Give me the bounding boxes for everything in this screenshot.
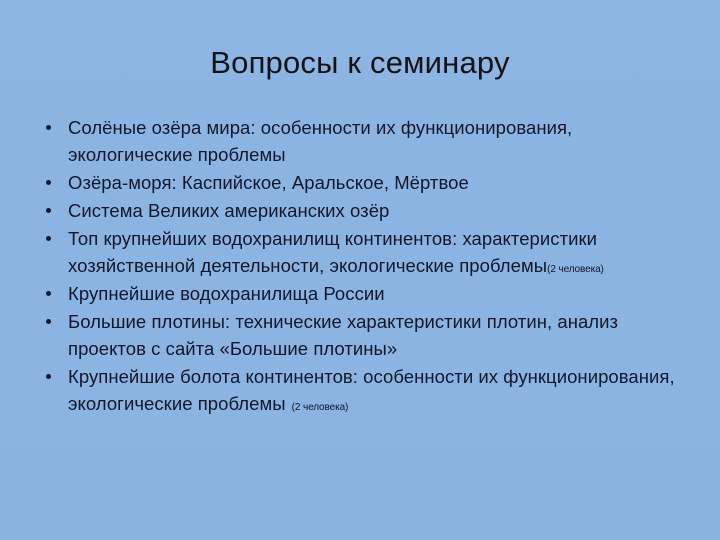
list-item: Озёра-моря: Каспийское, Аральское, Мёртв… xyxy=(38,169,690,196)
bullet-point-icon xyxy=(46,236,51,241)
bullet-point-icon xyxy=(46,180,51,185)
list-item-text: Крупнейшие водохранилища России xyxy=(68,283,385,304)
seminar-questions-list: Солёные озёра мира: особенности их функц… xyxy=(38,114,690,418)
list-item-text: Система Великих американских озёр xyxy=(68,200,389,221)
list-item: Солёные озёра мира: особенности их функц… xyxy=(38,114,690,168)
list-item-text: Озёра-моря: Каспийское, Аральское, Мёртв… xyxy=(68,172,469,193)
bullet-point-icon xyxy=(46,291,51,296)
list-item-text: Крупнейшие болота континентов: особеннос… xyxy=(68,366,675,414)
bullet-point-icon xyxy=(46,319,51,324)
page-title: Вопросы к семинару xyxy=(0,44,720,82)
list-item-note: (2 человека) xyxy=(292,402,349,413)
list-item-note: (2 человека) xyxy=(547,264,604,275)
list-item: Система Великих американских озёр xyxy=(38,197,690,224)
bullet-point-icon xyxy=(46,374,51,379)
list-item: Топ крупнейших водохранилищ континентов:… xyxy=(38,225,690,279)
bullet-point-icon xyxy=(46,125,51,130)
list-item-text: Топ крупнейших водохранилищ континентов:… xyxy=(68,228,597,276)
list-item-text: Большие плотины: технические характерист… xyxy=(68,311,618,359)
bullet-point-icon xyxy=(46,208,51,213)
list-item: Крупнейшие водохранилища России xyxy=(38,280,690,307)
list-item: Крупнейшие болота континентов: особеннос… xyxy=(38,363,690,417)
list-item-text: Солёные озёра мира: особенности их функц… xyxy=(68,117,572,165)
presentation-slide: Вопросы к семинару Солёные озёра мира: о… xyxy=(0,0,720,540)
list-item: Большие плотины: технические характерист… xyxy=(38,308,690,362)
